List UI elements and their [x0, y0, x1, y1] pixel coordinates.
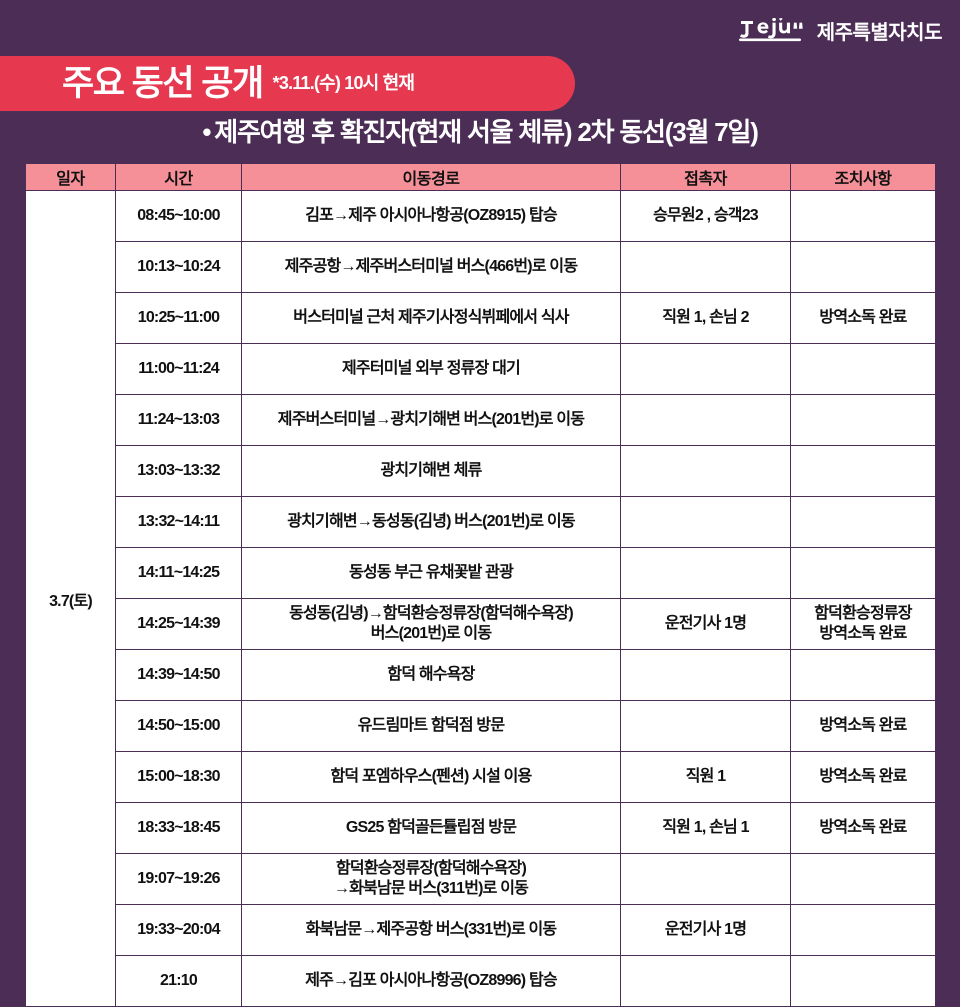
action-cell [791, 191, 936, 242]
time-cell: 19:33~20:04 [116, 905, 242, 956]
action-cell [791, 242, 936, 293]
route-cell: GS25 함덕골든튤립점 방문 [242, 803, 621, 854]
table-row: 3.7(토)08:45~10:00김포→제주 아시아나항공(OZ8915) 탑승… [26, 191, 936, 242]
contact-cell [621, 446, 791, 497]
table-row: 14:25~14:39동성동(김녕)→함덕환승정류장(함덕해수욕장)버스(201… [26, 599, 936, 650]
table-header-row: 일자 시간 이동경로 접촉자 조치사항 [26, 164, 936, 191]
action-cell [791, 344, 936, 395]
branding-logo-bar: 제주특별자치도 [737, 18, 942, 48]
table-row: 13:03~13:32광치기해변 체류 [26, 446, 936, 497]
contact-cell [621, 497, 791, 548]
table-row: 10:25~11:00버스터미널 근처 제주기사정식뷔페에서 식사직원 1, 손… [26, 293, 936, 344]
contact-cell: 운전기사 1명 [621, 905, 791, 956]
time-cell: 14:11~14:25 [116, 548, 242, 599]
column-header-date: 일자 [26, 164, 116, 191]
time-cell: 13:32~14:11 [116, 497, 242, 548]
table-row: 14:50~15:00유드림마트 함덕점 방문방역소독 완료 [26, 701, 936, 752]
action-cell [791, 548, 936, 599]
contact-cell [621, 956, 791, 1007]
org-name: 제주특별자치도 [817, 23, 942, 43]
contact-cell [621, 395, 791, 446]
route-cell: 제주터미널 외부 정류장 대기 [242, 344, 621, 395]
banner-title: 주요 동선 공개 [62, 66, 263, 101]
table-row: 13:32~14:11광치기해변→동성동(김녕) 버스(201번)로 이동 [26, 497, 936, 548]
column-header-action: 조치사항 [791, 164, 936, 191]
page-subtitle: •제주여행 후 확진자(현재 서울 체류) 2차 동선(3월 7일) [0, 118, 960, 147]
contact-cell: 직원 1 [621, 752, 791, 803]
contact-cell [621, 650, 791, 701]
route-cell: 함덕 해수욕장 [242, 650, 621, 701]
route-cell: 함덕 포엠하우스(펜션) 시설 이용 [242, 752, 621, 803]
contact-cell: 운전기사 1명 [621, 599, 791, 650]
route-cell: 동성동(김녕)→함덕환승정류장(함덕해수욕장)버스(201번)로 이동 [242, 599, 621, 650]
date-cell: 3.7(토) [26, 191, 116, 1007]
column-header-contact: 접촉자 [621, 164, 791, 191]
table-row: 11:24~13:03제주버스터미널→광치기해변 버스(201번)로 이동 [26, 395, 936, 446]
jeju-wordmark-icon [737, 18, 809, 49]
route-cell: 광치기해변 체류 [242, 446, 621, 497]
action-cell [791, 905, 936, 956]
table-row: 14:11~14:25동성동 부근 유채꽃밭 관광 [26, 548, 936, 599]
table-header: 일자 시간 이동경로 접촉자 조치사항 [26, 164, 936, 191]
time-cell: 15:00~18:30 [116, 752, 242, 803]
table-row: 10:13~10:24제주공항→제주버스터미널 버스(466번)로 이동 [26, 242, 936, 293]
action-cell: 방역소독 완료 [791, 752, 936, 803]
banner-timestamp-note: *3.11.(수) 10시 현재 [273, 74, 415, 94]
action-cell [791, 854, 936, 905]
contact-cell: 직원 1, 손님 2 [621, 293, 791, 344]
contact-cell [621, 548, 791, 599]
subtitle-text: 제주여행 후 확진자(현재 서울 체류) 2차 동선(3월 7일) [214, 117, 757, 147]
time-cell: 13:03~13:32 [116, 446, 242, 497]
time-cell: 14:39~14:50 [116, 650, 242, 701]
table-row: 15:00~18:30함덕 포엠하우스(펜션) 시설 이용직원 1방역소독 완료 [26, 752, 936, 803]
route-cell: 동성동 부근 유채꽃밭 관광 [242, 548, 621, 599]
route-cell: 화북남문→제주공항 버스(331번)로 이동 [242, 905, 621, 956]
contact-cell: 승무원2 , 승객23 [621, 191, 791, 242]
time-cell: 11:24~13:03 [116, 395, 242, 446]
table-row: 18:33~18:45GS25 함덕골든튤립점 방문직원 1, 손님 1방역소독… [26, 803, 936, 854]
time-cell: 10:25~11:00 [116, 293, 242, 344]
route-cell: 함덕환승정류장(함덕해수욕장)→화북남문 버스(311번)로 이동 [242, 854, 621, 905]
action-cell [791, 956, 936, 1007]
main-banner: 주요 동선 공개 *3.11.(수) 10시 현재 [0, 56, 575, 111]
action-cell: 함덕환승정류장방역소독 완료 [791, 599, 936, 650]
route-table-container: 일자 시간 이동경로 접촉자 조치사항 3.7(토)08:45~10:00김포→… [25, 163, 935, 1007]
time-cell: 21:10 [116, 956, 242, 1007]
table-row: 11:00~11:24제주터미널 외부 정류장 대기 [26, 344, 936, 395]
route-cell: 유드림마트 함덕점 방문 [242, 701, 621, 752]
route-table: 일자 시간 이동경로 접촉자 조치사항 3.7(토)08:45~10:00김포→… [25, 163, 936, 1007]
table-row: 19:07~19:26함덕환승정류장(함덕해수욕장)→화북남문 버스(311번)… [26, 854, 936, 905]
action-cell: 방역소독 완료 [791, 701, 936, 752]
time-cell: 19:07~19:26 [116, 854, 242, 905]
route-cell: 버스터미널 근처 제주기사정식뷔페에서 식사 [242, 293, 621, 344]
time-cell: 18:33~18:45 [116, 803, 242, 854]
route-cell: 김포→제주 아시아나항공(OZ8915) 탑승 [242, 191, 621, 242]
action-cell [791, 446, 936, 497]
action-cell [791, 395, 936, 446]
time-cell: 08:45~10:00 [116, 191, 242, 242]
route-cell: 제주→김포 아시아나항공(OZ8996) 탑승 [242, 956, 621, 1007]
table-row: 14:39~14:50함덕 해수욕장 [26, 650, 936, 701]
action-cell: 방역소독 완료 [791, 293, 936, 344]
contact-cell [621, 701, 791, 752]
time-cell: 11:00~11:24 [116, 344, 242, 395]
route-cell: 제주공항→제주버스터미널 버스(466번)로 이동 [242, 242, 621, 293]
time-cell: 14:25~14:39 [116, 599, 242, 650]
bullet-icon: • [202, 118, 210, 147]
contact-cell: 직원 1, 손님 1 [621, 803, 791, 854]
route-cell: 제주버스터미널→광치기해변 버스(201번)로 이동 [242, 395, 621, 446]
time-cell: 14:50~15:00 [116, 701, 242, 752]
action-cell [791, 497, 936, 548]
table-row: 21:10제주→김포 아시아나항공(OZ8996) 탑승 [26, 956, 936, 1007]
route-cell: 광치기해변→동성동(김녕) 버스(201번)로 이동 [242, 497, 621, 548]
column-header-time: 시간 [116, 164, 242, 191]
table-row: 19:33~20:04화북남문→제주공항 버스(331번)로 이동운전기사 1명 [26, 905, 936, 956]
table-body: 3.7(토)08:45~10:00김포→제주 아시아나항공(OZ8915) 탑승… [26, 191, 936, 1007]
contact-cell [621, 854, 791, 905]
action-cell [791, 650, 936, 701]
time-cell: 10:13~10:24 [116, 242, 242, 293]
contact-cell [621, 242, 791, 293]
contact-cell [621, 344, 791, 395]
column-header-route: 이동경로 [242, 164, 621, 191]
action-cell: 방역소독 완료 [791, 803, 936, 854]
